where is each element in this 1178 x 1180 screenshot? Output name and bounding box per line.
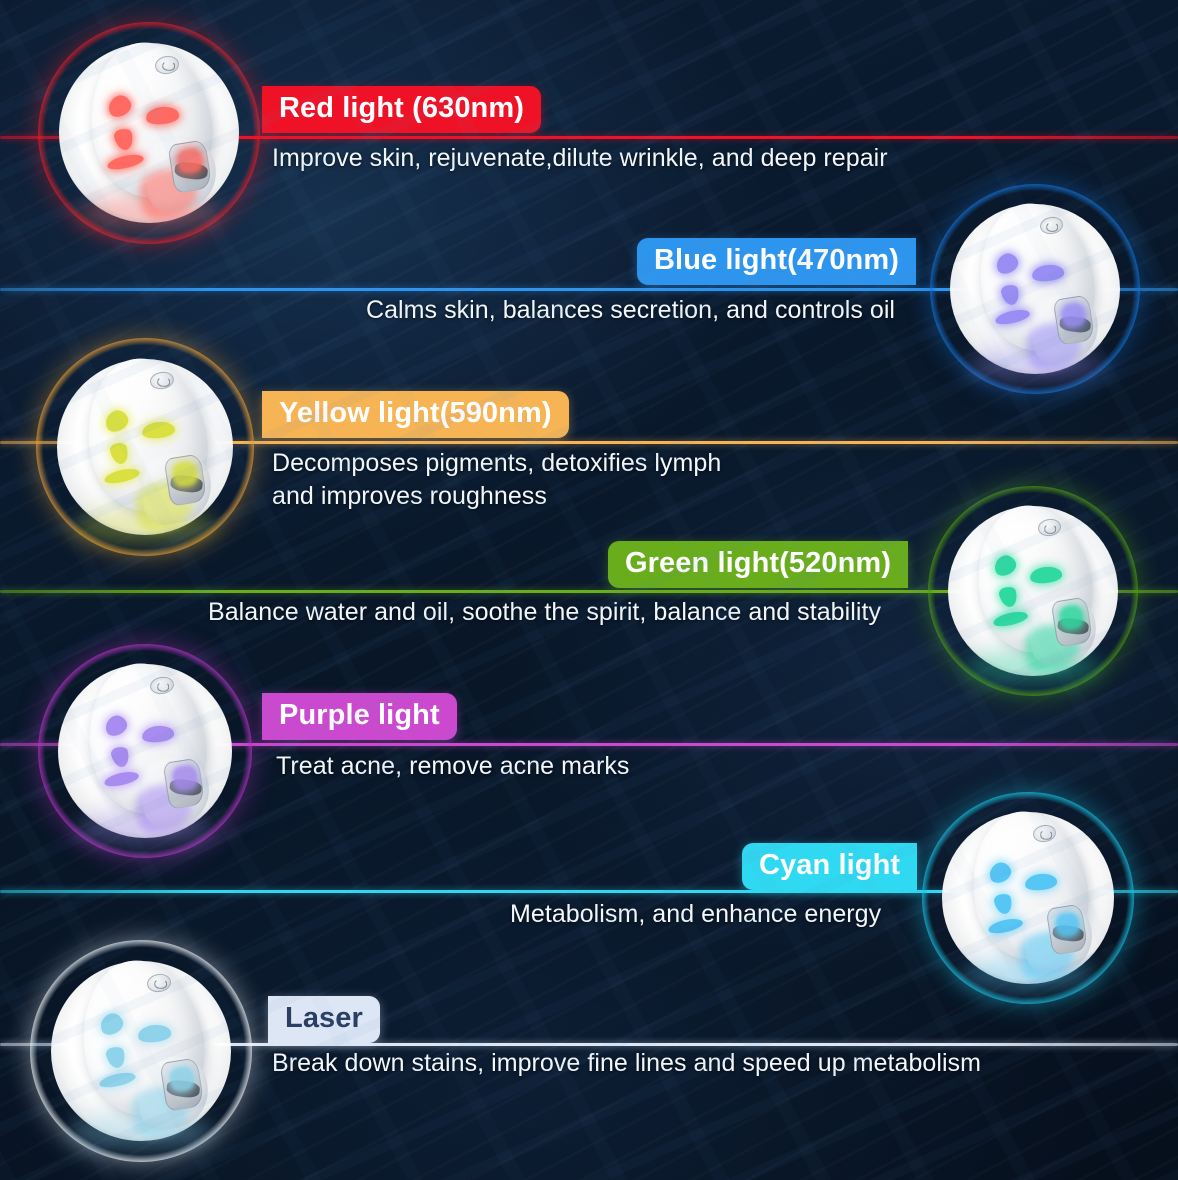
mask-power-button-icon	[145, 973, 172, 994]
mask-circles-layer	[0, 0, 1178, 1180]
mask-led-nose	[998, 585, 1019, 608]
light-mode-description-blue: Calms skin, balances secretion, and cont…	[366, 294, 895, 327]
mask-face-shell	[962, 803, 1098, 967]
mask-side-strap	[1053, 295, 1095, 346]
mask-led-eye-left	[102, 407, 131, 435]
led-mask-illustration-red	[38, 22, 260, 244]
mask-chin-glow	[1023, 319, 1084, 373]
led-mask-illustration-laser	[30, 940, 252, 1162]
mask-led-eye-right	[137, 1024, 172, 1045]
mask-face-shell	[77, 349, 217, 518]
mask-glow-disc	[57, 359, 233, 535]
mask-chin-glow	[129, 1082, 194, 1139]
mask-strap-led	[171, 764, 198, 791]
mask-led-eye-right	[145, 106, 180, 127]
mask-neck-piece	[136, 750, 215, 830]
light-mode-label-green: Green light(520nm)	[608, 541, 908, 588]
mask-face-shell	[72, 952, 215, 1124]
mask-glow-disc	[51, 961, 231, 1141]
mask-chin-glow	[1016, 928, 1078, 983]
mask-strap-led	[1059, 604, 1085, 630]
mask-led-eye-left	[993, 250, 1021, 277]
mask-led-eye-left	[991, 552, 1019, 579]
mask-undercast-glow	[78, 195, 220, 231]
led-mask-illustration-blue	[930, 184, 1140, 394]
divider-rule-yellow	[0, 441, 1178, 444]
mask-side-strap	[163, 757, 206, 809]
divider-rules-layer	[0, 0, 1178, 1180]
mask-led-mouth	[987, 916, 1024, 935]
mask-led-nose	[112, 127, 134, 152]
led-mask-illustration-yellow	[36, 338, 254, 556]
mask-led-eye-left	[105, 92, 135, 120]
led-mask-illustration-cyan	[922, 792, 1134, 1004]
mask-circle-red	[38, 22, 260, 244]
mask-circle-blue	[930, 184, 1140, 394]
light-mode-description-laser: Break down stains, improve fine lines an…	[272, 1047, 981, 1080]
mask-power-button-icon	[1037, 517, 1062, 537]
mask-led-nose	[110, 745, 132, 769]
mask-led-eye-left	[986, 859, 1014, 886]
light-mode-label-cyan: Cyan light	[742, 843, 917, 890]
mask-glow-disc	[948, 506, 1118, 676]
light-mode-label-laser: Laser	[268, 996, 380, 1043]
mask-glow-disc	[58, 664, 232, 838]
mask-strap-led	[172, 461, 199, 488]
mask-side-strap	[1051, 597, 1093, 648]
divider-rule-laser	[0, 1043, 1178, 1046]
mask-strap-led	[168, 1065, 196, 1093]
mask-circle-yellow	[36, 338, 254, 556]
mask-strap-led	[1061, 302, 1087, 328]
mask-neck-piece	[139, 132, 221, 215]
led-mask-illustration-green	[928, 486, 1138, 696]
mask-undercast-glow	[70, 1113, 212, 1149]
mask-power-button-icon	[149, 675, 175, 696]
mask-led-eye-right	[1031, 263, 1064, 282]
mask-chin-glow	[133, 478, 196, 534]
mask-neck-piece	[1026, 288, 1103, 367]
mask-led-nose	[993, 892, 1014, 916]
light-mode-description-red: Improve skin, rejuvenate,dilute wrinkle,…	[272, 142, 888, 175]
mask-led-nose	[1000, 283, 1021, 306]
mask-face-shell	[78, 655, 216, 821]
light-mode-label-red: Red light (630nm)	[262, 86, 541, 133]
light-mode-description-cyan: Metabolism, and enhance energy	[510, 898, 881, 931]
light-mode-label-purple: Purple light	[262, 693, 457, 740]
mask-led-eye-right	[141, 420, 175, 440]
mask-side-strap	[163, 453, 207, 506]
mask-chin-glow	[137, 164, 202, 221]
led-mask-illustration-purple	[38, 644, 252, 858]
divider-rule-cyan	[0, 890, 1178, 893]
mask-circle-purple	[38, 644, 252, 858]
mask-side-strap	[160, 1057, 205, 1111]
mask-neck-piece	[135, 446, 215, 528]
divider-rule-green	[0, 590, 1178, 593]
mask-led-mouth	[994, 307, 1030, 326]
mask-led-mouth	[98, 1070, 136, 1090]
mask-led-mouth	[106, 152, 144, 172]
mask-led-eye-left	[102, 712, 131, 739]
mask-glow-disc	[950, 204, 1120, 374]
divider-rule-blue	[0, 288, 1178, 291]
mask-led-eye-right	[1029, 565, 1062, 584]
mask-undercast-glow	[77, 811, 214, 845]
light-mode-label-yellow: Yellow light(590nm)	[262, 391, 569, 438]
infographic-canvas: Red light (630nm)Improve skin, rejuvenat…	[0, 0, 1178, 1180]
mask-circle-cyan	[922, 792, 1134, 1004]
light-mode-description-purple: Treat acne, remove acne marks	[276, 750, 629, 783]
mask-neck-piece	[1019, 897, 1097, 977]
mask-led-nose	[109, 441, 131, 465]
light-mode-description-green: Balance water and oil, soothe the spirit…	[208, 596, 881, 629]
mask-face-shell	[968, 497, 1103, 660]
mask-side-strap	[1046, 904, 1089, 956]
mask-strap-led	[1054, 911, 1081, 938]
mask-led-eye-left	[97, 1010, 127, 1038]
mask-led-mouth	[103, 466, 141, 486]
mask-power-button-icon	[149, 370, 175, 391]
mask-circle-laser	[30, 940, 252, 1162]
mask-side-strap	[168, 139, 213, 193]
divider-rule-purple	[0, 743, 1178, 746]
mask-face-shell	[970, 195, 1105, 358]
mask-power-button-icon	[1039, 215, 1064, 235]
mask-circle-green	[928, 486, 1138, 696]
mask-glow-disc	[942, 812, 1114, 984]
mask-led-eye-right	[141, 724, 175, 744]
mask-led-mouth	[103, 770, 140, 789]
mask-undercast-glow	[960, 957, 1096, 991]
mask-power-button-icon	[1032, 823, 1058, 843]
mask-undercast-glow	[968, 348, 1102, 382]
light-mode-label-blue: Blue light(470nm)	[637, 238, 916, 285]
mask-strap-led	[176, 147, 204, 175]
light-mode-description-yellow: Decomposes pigments, detoxifies lymph an…	[272, 447, 721, 512]
mask-chin-glow	[133, 781, 195, 836]
mask-face-shell	[80, 34, 223, 206]
divider-rule-red	[0, 136, 1178, 139]
mask-undercast-glow	[75, 508, 215, 543]
mask-undercast-glow	[966, 650, 1100, 684]
mask-led-mouth	[992, 609, 1028, 628]
mask-led-nose	[104, 1045, 126, 1070]
mask-power-button-icon	[153, 55, 180, 76]
mask-glow-disc	[59, 43, 239, 223]
labels-layer: Red light (630nm)Improve skin, rejuvenat…	[0, 0, 1178, 1180]
mask-led-eye-right	[1024, 872, 1057, 892]
mask-neck-piece	[1024, 590, 1101, 669]
mask-neck-piece	[131, 1050, 213, 1133]
mask-chin-glow	[1021, 621, 1082, 675]
